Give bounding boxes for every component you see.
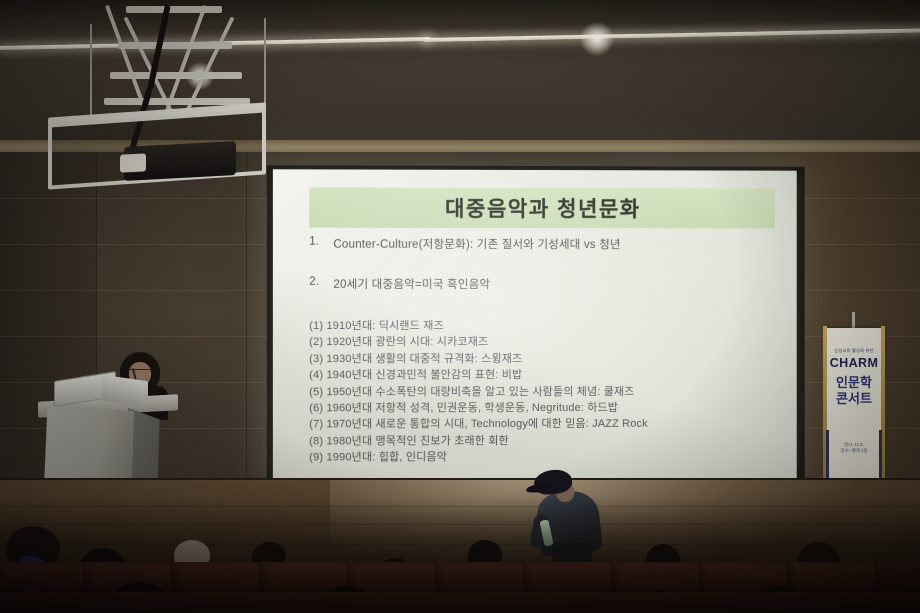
slide-sublist-item: (4) 1940년대 신경과민적 불안감의 표현: 비밥 (309, 367, 781, 384)
audience-area (0, 520, 920, 613)
projector-scissor-lift (62, 0, 292, 198)
slide-title: 대중음악과 청년문화 (445, 193, 641, 223)
slide-numbered-text: 20세기 대중음악=미국 흑인음악 (333, 276, 490, 292)
slide-numbered-item: 2. 20세기 대중음악=미국 흑인음악 (309, 276, 781, 292)
projector-lens (120, 153, 146, 172)
mount-hanger-wire (90, 24, 92, 122)
slide-sublist-item: (8) 1980년대 맹목적인 진보가 초래한 회한 (309, 432, 781, 449)
slide-numbered-index: 1. (309, 236, 321, 252)
slide-numbered-text: Counter-Culture(저항문화): 기존 질서와 기성세대 vs 청년 (333, 236, 620, 252)
lecture-hall-photo: 대중음악과 청년문화 1. Counter-Culture(저항문화): 기존 … (0, 0, 920, 613)
slide-numbered-index: 2. (309, 276, 321, 292)
slide: 대중음악과 청년문화 1. Counter-Culture(저항문화): 기존 … (273, 169, 797, 482)
scissor-rung (110, 72, 242, 79)
slide-numbered-item: 1. Counter-Culture(저항문화): 기존 질서와 기성세대 vs… (309, 236, 781, 253)
scissor-rung (104, 98, 250, 105)
audience-seat (178, 562, 262, 596)
slide-sublist-item: (5) 1950년대 수소폭탄의 대량비축을 알고 있는 사람들의 체념: 쿨재… (309, 383, 781, 400)
slide-body: 1. Counter-Culture(저항문화): 기존 질서와 기성세대 vs… (309, 236, 781, 467)
audience-seat (442, 562, 526, 596)
slide-sublist-item: (2) 1920년대 광란의 시대: 시카코재즈 (309, 334, 781, 351)
wall-column-joint (246, 152, 247, 482)
seat-row-back (0, 592, 920, 613)
audience-seat (530, 562, 614, 596)
banner-kicker-text: 인성교육 활성화 위한 (820, 348, 888, 354)
scissor-arm (165, 5, 207, 112)
audience-seat (794, 562, 878, 596)
scissor-rung (126, 6, 222, 13)
audience-seat (2, 562, 86, 596)
floor-plank-seam (0, 506, 920, 507)
banner-info-line2: 장소: 세미나실 (820, 448, 888, 454)
slide-sublist-item: (9) 1990년대: 힙합, 인디음악 (309, 449, 781, 466)
scissor-rung (118, 42, 232, 49)
banner-title-kr-line2: 콘서트 (820, 388, 888, 407)
slide-sublist: (1) 1910년대: 딕시랜드 재즈 (2) 1920년대 광란의 시대: 시… (309, 318, 781, 466)
slide-title-band: 대중음악과 청년문화 (309, 187, 775, 228)
slide-sublist-item: (3) 1930년대 생활의 대중적 규격화: 스윙재즈 (309, 351, 781, 368)
ceiling-lamp-glow-right (580, 22, 614, 56)
slide-sublist-item: (6) 1960년대 저항적 성격, 민권운동, 학생운동, Negritude… (309, 400, 781, 417)
slide-sublist-item: (1) 1910년대: 딕시랜드 재즈 (309, 318, 781, 334)
projection-screen: 대중음악과 청년문화 1. Counter-Culture(저항문화): 기존 … (273, 169, 797, 482)
banner-info: 일시: 11.5. 장소: 세미나실 (820, 442, 888, 454)
banner-title-en: CHARM (820, 356, 888, 370)
slide-sublist-item: (7) 1970년대 새로운 통합의 시대, Technology에 대한 믿음… (309, 416, 781, 433)
